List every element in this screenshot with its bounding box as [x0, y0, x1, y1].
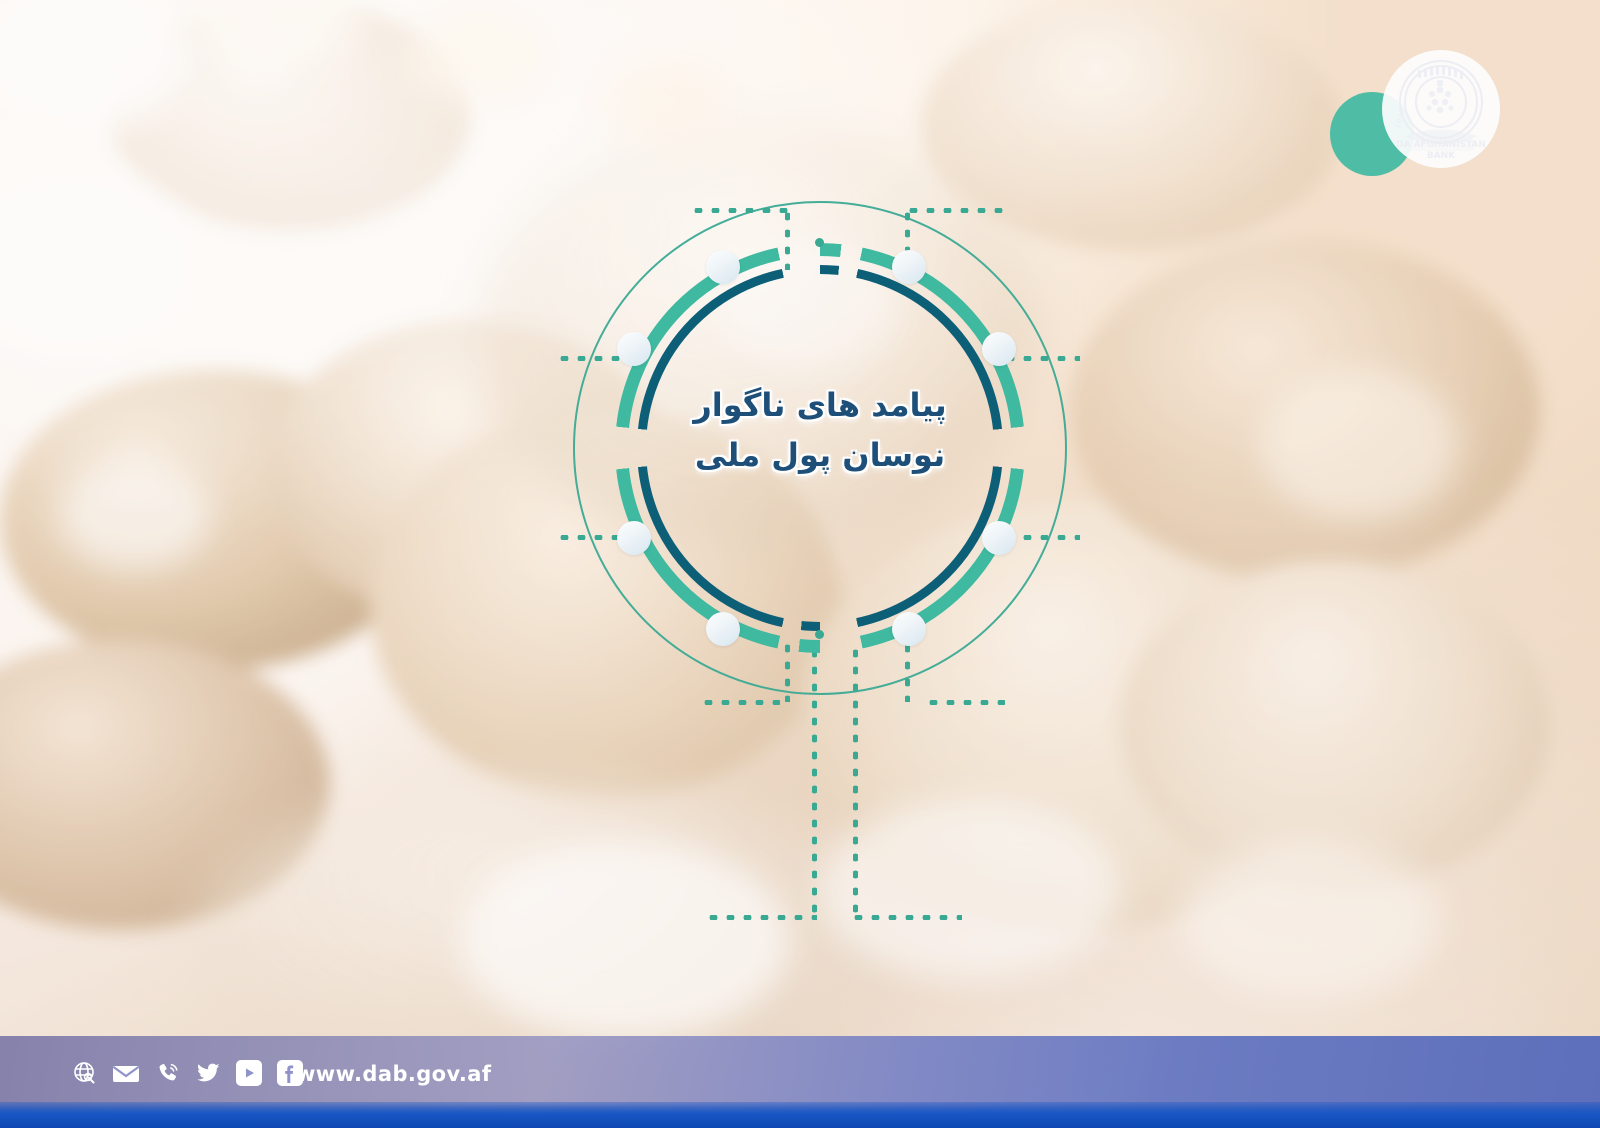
- ring-node: [617, 332, 651, 366]
- bank-logo: 1939 DA AFGHANISTAN BANK: [1382, 50, 1500, 168]
- center-title-line1: پیامد های ناگوار: [615, 381, 1025, 431]
- ring-node: [706, 612, 740, 646]
- infographic-poster: پیامد های ناگوار نوسان پول ملی افزایش قی…: [0, 0, 1600, 1128]
- ring-node-dot: [815, 238, 824, 247]
- ring-node: [706, 250, 740, 284]
- youtube-icon[interactable]: [234, 1058, 264, 1088]
- social-links[interactable]: [70, 1058, 305, 1088]
- footer-blue-strip: [0, 1102, 1600, 1128]
- email-icon[interactable]: [111, 1058, 141, 1088]
- logo-white-disc: [1382, 50, 1500, 168]
- ring-node: [892, 612, 926, 646]
- ring-node: [617, 521, 651, 555]
- website-url[interactable]: www.dab.gov.af: [296, 1062, 491, 1086]
- ring-node: [892, 250, 926, 284]
- connector-dot-line: [905, 208, 1005, 213]
- center-title-line2: نوسان پول ملی: [615, 431, 1025, 481]
- ring-node-dot: [815, 630, 824, 639]
- connector-dot-line: [925, 700, 1005, 705]
- connector-dot-line: [850, 915, 962, 920]
- ring-node: [982, 332, 1016, 366]
- ring-node: [982, 521, 1016, 555]
- twitter-icon[interactable]: [193, 1058, 223, 1088]
- center-emblem: پیامد های ناگوار نوسان پول ملی: [615, 243, 1025, 653]
- globe-icon[interactable]: [70, 1058, 100, 1088]
- footer-bar: www.dab.gov.af: [0, 1036, 1600, 1128]
- connector-dot-line: [705, 915, 817, 920]
- center-title: پیامد های ناگوار نوسان پول ملی: [615, 381, 1025, 480]
- phone-icon[interactable]: [152, 1058, 182, 1088]
- connector-dot-line: [700, 700, 780, 705]
